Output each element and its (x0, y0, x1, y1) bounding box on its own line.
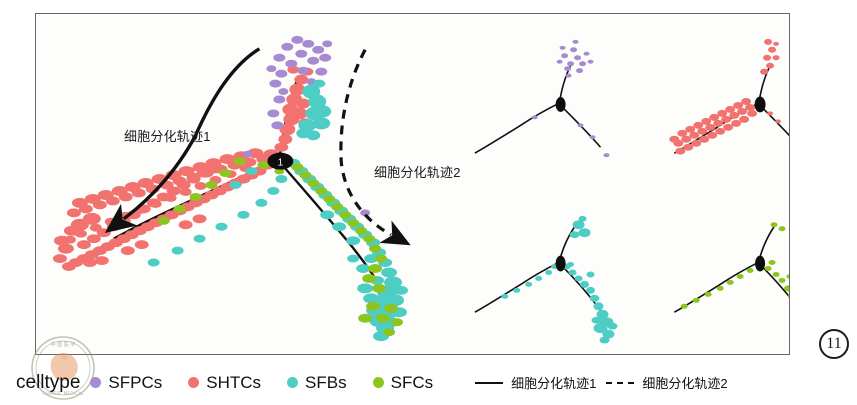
panel-sfpcs-node (556, 97, 566, 112)
solid-line-sample (475, 382, 503, 384)
panel-shtcs-node (755, 97, 766, 113)
legend-dot-sfcs (373, 377, 384, 388)
celltype-legend-items: SFPCs SHTCs SFBs SFCs (90, 373, 433, 393)
trajectory2-annotation: 细胞分化轨迹2 (374, 162, 461, 181)
panel-sfcs (674, 222, 789, 336)
panel-sfpcs (475, 40, 610, 157)
line-legend-items: 细胞分化轨迹1 细胞分化轨迹2 (475, 373, 727, 392)
panel-sfpcs-cells (532, 40, 610, 157)
legend-label-sfpcs: SFPCs (108, 373, 162, 393)
legend-item-shtcs[interactable]: SHTCs (188, 373, 261, 393)
legend-item-sfpcs[interactable]: SFPCs (90, 373, 162, 393)
panel-sfbs-cells (501, 216, 617, 344)
legend-dot-sfbs (287, 377, 298, 388)
line-legend-trajectory1[interactable]: 细胞分化轨迹1 (475, 373, 596, 392)
legend-dot-sfpcs (90, 377, 101, 388)
panel-sfcs-cells (681, 222, 789, 336)
main-branch-node: 1 (267, 153, 293, 170)
line-legend-label-trajectory2: 细胞分化轨迹2 (642, 373, 727, 392)
legend-item-sfcs[interactable]: SFCs (373, 373, 434, 393)
legend-bar: celltype SFPCs SHTCs SFBs SFCs 细胞分化 (0, 360, 857, 405)
legend-title: celltype (16, 372, 80, 394)
legend-dot-shtcs (188, 377, 199, 388)
figure-root: 1 (0, 0, 857, 405)
trajectory2-arrow (341, 50, 391, 235)
panel-shtcs (669, 39, 789, 155)
figure-number-badge: 11 (819, 329, 849, 359)
main-cells-sfcs (158, 157, 403, 336)
main-panel: 1 (53, 36, 408, 341)
branch-node-label: 1 (278, 158, 284, 169)
line-legend-label-trajectory1: 细胞分化轨迹1 (511, 373, 596, 392)
legend-label-shtcs: SHTCs (206, 373, 261, 393)
panel-sfbs (475, 216, 618, 344)
panel-sfcs-node (755, 256, 765, 272)
dashed-line-sample (606, 382, 634, 384)
panel-shtcs-cells (669, 39, 781, 155)
trajectory-plot-svg: 1 (36, 14, 789, 354)
trajectory1-annotation: 细胞分化轨迹1 (124, 126, 211, 145)
plot-frame: 1 (35, 13, 790, 355)
legend-item-sfbs[interactable]: SFBs (287, 373, 347, 393)
panel-sfbs-node (556, 256, 566, 272)
legend-label-sfbs: SFBs (305, 373, 347, 393)
legend-label-sfcs: SFCs (391, 373, 434, 393)
line-legend-trajectory2[interactable]: 细胞分化轨迹2 (606, 373, 727, 392)
